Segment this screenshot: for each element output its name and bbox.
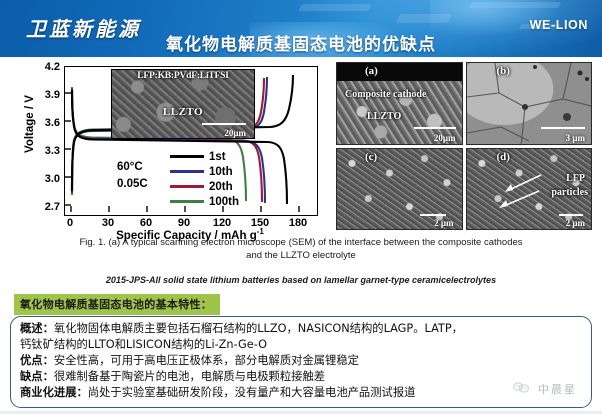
sem-image-b: (b) 3 μm (466, 62, 593, 145)
sem-tag-a: (a) (365, 65, 378, 77)
sem-image-a: (a) Composite cathode LLZTO 20μm (336, 62, 463, 145)
sem-image-d: (d) LFP particles 2 μm (466, 148, 593, 231)
sem-scale-bar-c (420, 214, 446, 216)
info-text-commercialization: 尚处于实验室基础研发阶段，没有量产和大容量电池产品测试报道 (88, 386, 416, 399)
annotation-arrow-2-icon (497, 189, 541, 209)
slide-header: 卫蓝新能源 WE-LION 氧化物电解质基固态电池的优缺点 (0, 0, 602, 57)
info-line-disadvantages: 缺点：很难制备基于陶瓷片的电池，电解质与电极颗粒接触差 (20, 369, 325, 384)
info-line-advantages: 优点：安全性高，可用于高电压正极体系，部分电解质对金属锂稳定 (20, 353, 359, 368)
info-text-overview: 氧化物固体电解质主要包括石榴石结构的LLZO，NASICON结构的LAGP。LA… (54, 322, 463, 335)
legend-label-100th: 100th (209, 196, 239, 208)
sem-tag-d: (d) (497, 151, 510, 163)
info-label-overview: 概述： (20, 322, 54, 335)
figure-caption-line2: and the LLZTO electrolyte (12, 249, 590, 262)
inset-scale-bar (202, 123, 246, 125)
info-text-disadvantages: 很难制备基于陶瓷片的电池，电解质与电极颗粒接触差 (54, 370, 325, 383)
legend-label-10th: 10th (209, 166, 233, 178)
chart-y-ticks: 4.2 3.9 3.6 3.3 3.0 2.7 (26, 60, 60, 238)
condition-rate: 0.05C (117, 176, 148, 193)
sem-grain-boundaries-b (467, 63, 593, 145)
legend-item-100th: 100th (170, 194, 262, 209)
sem-label-composite-cathode: Composite cathode (345, 89, 426, 100)
watermark-text: 中晨星 (538, 381, 577, 397)
y-tick-2: 3.6 (26, 118, 60, 128)
figure-source-citation: 2015-JPS-All solid state lithium batteri… (12, 275, 590, 285)
sem-label-lfp: LFP (566, 173, 585, 184)
legend-swatch-20th (170, 185, 204, 188)
legend-label-1st: 1st (209, 151, 226, 163)
legend-item-1st: 1st (170, 149, 262, 164)
y-tick-5: 2.7 (26, 202, 60, 212)
sem-label-llzto: LLZTO (367, 111, 401, 122)
info-label-disadvantages: 缺点： (20, 370, 54, 383)
x-axis-label-exponent: -1 (257, 227, 264, 236)
chart-legend: 1st 10th 20th 100th (170, 149, 262, 209)
header-streak-1 (298, 4, 372, 11)
legend-swatch-10th (170, 170, 204, 173)
info-line-overview-cont: 钙钛矿结构的LLTO和LISICON结构的Li-Zn-Ge-O (20, 337, 267, 352)
sem-scale-bar-d (559, 214, 583, 216)
info-label-commercialization: 商业化进展： (20, 386, 88, 399)
page-title: 氧化物电解质基固态电池的优缺点 (0, 30, 602, 55)
watermark-logo-icon (513, 381, 529, 394)
legend-swatch-100th (170, 200, 204, 203)
figure-caption: Fig. 1. (a) A typical scanning electron … (12, 236, 590, 262)
y-tick-4: 3.0 (26, 174, 60, 184)
inset-scale-label: 20μm (224, 128, 246, 138)
voltage-capacity-chart: Voltage / V 4.2 3.9 3.6 3.3 3.0 2.7 (8, 60, 328, 238)
y-tick-0: 4.2 (26, 62, 60, 72)
info-text-overview-cont: 钙钛矿结构的LLTO和LISICON结构的Li-Zn-Ge-O (20, 338, 267, 351)
sem-tag-c: (c) (365, 151, 377, 163)
info-text-advantages: 安全性高，可用于高电压正极体系，部分电解质对金属锂稳定 (54, 354, 359, 367)
legend-item-10th: 10th (170, 164, 262, 179)
inset-llzto-label: LLZTO (112, 106, 254, 118)
legend-swatch-1st (170, 155, 204, 158)
header-streak-2 (396, 14, 453, 23)
header-streak-3 (468, 2, 561, 8)
chart-inset-sem-image: LFP:KB:PVdF:LiTFSI LLZTO 20μm (111, 69, 255, 139)
chart-conditions: 60°C 0.05C (117, 159, 148, 193)
chart-plot-area: LFP:KB:PVdF:LiTFSI LLZTO 20μm 60°C 0.05C… (64, 66, 318, 216)
legend-label-20th: 20th (209, 181, 233, 193)
sem-label-particles: particles (551, 187, 588, 198)
condition-temperature: 60°C (117, 159, 148, 176)
sem-scale-bar-a (414, 127, 456, 129)
y-tick-3: 3.3 (26, 146, 60, 156)
info-line-commercialization: 商业化进展：尚处于实验室基础研发阶段，没有量产和大容量电池产品测试报道 (20, 385, 415, 400)
sem-scale-label-c: 2 μm (434, 218, 453, 228)
info-section-header: 氧化物电解质基固态电池的基本特性： (14, 294, 220, 315)
info-label-advantages: 优点： (20, 354, 54, 367)
sem-image-c: (c) 2 μm (336, 148, 463, 231)
info-line-overview: 概述：氧化物固体电解质主要包括石榴石结构的LLZO，NASICON结构的LAGP… (20, 321, 463, 336)
y-tick-1: 3.9 (26, 90, 60, 100)
figure-caption-line1: Fig. 1. (a) A typical scanning electron … (12, 236, 590, 249)
slide-root: 卫蓝新能源 WE-LION 氧化物电解质基固态电池的优缺点 Voltage / … (0, 0, 602, 414)
inset-composition-label: LFP:KB:PVdF:LiTFSI (112, 71, 254, 81)
info-box: 概述：氧化物固体电解质主要包括石榴石结构的LLZO，NASICON结构的LAGP… (10, 316, 592, 408)
legend-item-20th: 20th (170, 179, 262, 194)
sem-scale-label-d: 2 μm (566, 218, 585, 228)
sem-image-panel: (a) Composite cathode LLZTO 20μm (b) 3 μ… (334, 60, 594, 232)
sem-scale-label-a: 20μm (434, 133, 456, 143)
